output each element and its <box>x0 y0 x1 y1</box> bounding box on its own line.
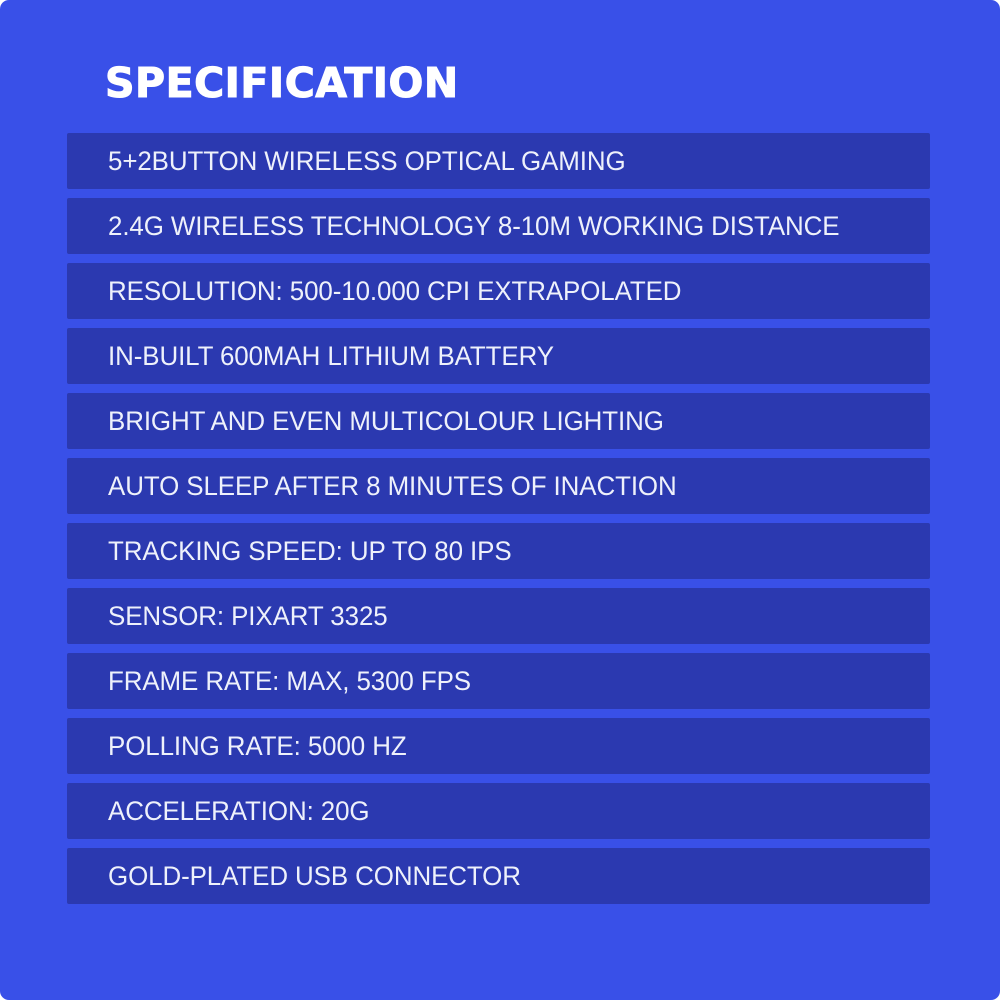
list-item: BRIGHT AND EVEN MULTICOLOUR LIGHTING <box>67 393 930 449</box>
list-item-label: TRACKING SPEED: UP TO 80 IPS <box>108 538 512 565</box>
list-item-label: RESOLUTION: 500-10.000 CPI EXTRAPOLATED <box>108 278 681 305</box>
page-title: SPECIFICATION <box>105 63 459 104</box>
list-item-label: POLLING RATE: 5000 HZ <box>108 733 407 760</box>
list-item: 2.4G WIRELESS TECHNOLOGY 8-10M WORKING D… <box>67 198 930 254</box>
list-item: SENSOR: PIXART 3325 <box>67 588 930 644</box>
list-item-label: GOLD-PLATED USB CONNECTOR <box>108 863 521 890</box>
list-item-label: SENSOR: PIXART 3325 <box>108 603 388 630</box>
list-item: RESOLUTION: 500-10.000 CPI EXTRAPOLATED <box>67 263 930 319</box>
specification-list: 5+2BUTTON WIRELESS OPTICAL GAMING 2.4G W… <box>67 133 930 904</box>
list-item: POLLING RATE: 5000 HZ <box>67 718 930 774</box>
list-item-label: 5+2BUTTON WIRELESS OPTICAL GAMING <box>108 148 626 175</box>
list-item: TRACKING SPEED: UP TO 80 IPS <box>67 523 930 579</box>
list-item: AUTO SLEEP AFTER 8 MINUTES OF INACTION <box>67 458 930 514</box>
list-item-label: IN-BUILT 600MAH LITHIUM BATTERY <box>108 343 554 370</box>
list-item: GOLD-PLATED USB CONNECTOR <box>67 848 930 904</box>
list-item: FRAME RATE: MAX, 5300 FPS <box>67 653 930 709</box>
list-item-label: AUTO SLEEP AFTER 8 MINUTES OF INACTION <box>108 473 677 500</box>
list-item-label: ACCELERATION: 20G <box>108 798 369 825</box>
specification-card: SPECIFICATION 5+2BUTTON WIRELESS OPTICAL… <box>0 0 1000 1000</box>
list-item: 5+2BUTTON WIRELESS OPTICAL GAMING <box>67 133 930 189</box>
list-item: ACCELERATION: 20G <box>67 783 930 839</box>
list-item-label: FRAME RATE: MAX, 5300 FPS <box>108 668 471 695</box>
list-item-label: BRIGHT AND EVEN MULTICOLOUR LIGHTING <box>108 408 664 435</box>
list-item-label: 2.4G WIRELESS TECHNOLOGY 8-10M WORKING D… <box>108 213 839 240</box>
list-item: IN-BUILT 600MAH LITHIUM BATTERY <box>67 328 930 384</box>
